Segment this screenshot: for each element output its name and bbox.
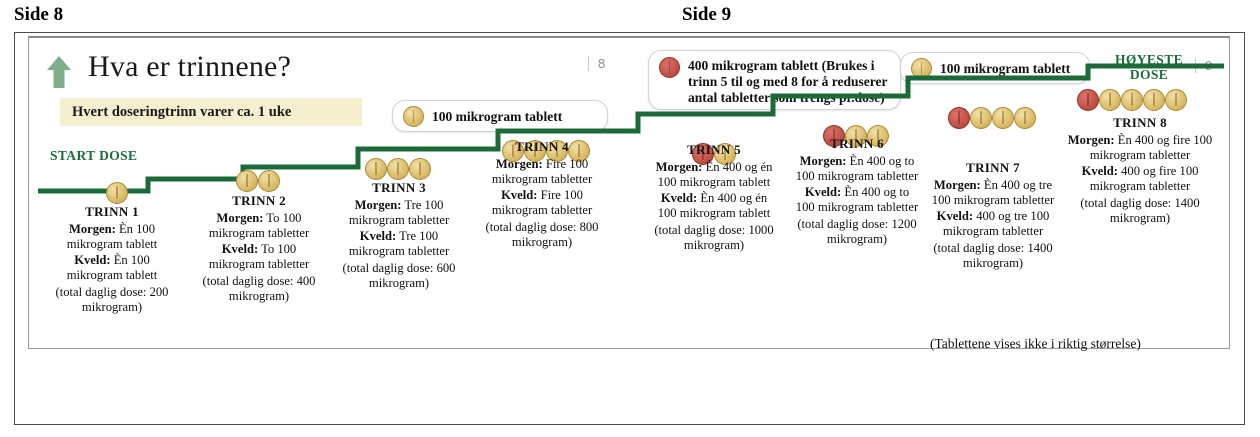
step-column: TRINN 1Morgen: Èn 100 mikrogram tablettK… [52, 204, 172, 315]
step-kveld-label: Kveld: [501, 188, 537, 202]
step-title: TRINN 7 [930, 160, 1056, 175]
step-column: TRINN 6Morgen: Èn 400 og to 100 mikrogra… [794, 136, 920, 247]
step-total: (total daglig dose: 1400 mikrogram) [930, 241, 1056, 270]
step-morgen: Morgen: Èn 400 og fire 100 mikrogram tab… [1064, 133, 1216, 162]
step-kveld: Kveld: Tre 100 mikrogram tabletter [338, 229, 460, 258]
step-title: TRINN 3 [338, 180, 460, 195]
gold-tablet-icon [409, 158, 431, 180]
gold-tablet-icon [992, 107, 1014, 129]
step-total: (total daglig dose: 800 mikrogram) [478, 220, 606, 249]
step-kveld: Kveld: Èn 400 og én 100 mikrogram tablet… [652, 191, 776, 220]
step-morgen-label: Morgen: [656, 160, 703, 174]
step-kveld: Kveld: Èn 100 mikrogram tablett [52, 253, 172, 282]
step-morgen-label: Morgen: [800, 154, 847, 168]
gold-tablet-icon [1014, 107, 1036, 129]
step-morgen: Morgen: Èn 100 mikrogram tablett [52, 222, 172, 251]
step-kveld: Kveld: Èn 400 og to 100 mikrogram tablet… [794, 185, 920, 214]
step-morgen: Morgen: Èn 400 og én 100 mikrogram table… [652, 160, 776, 189]
step-total: (total daglig dose: 200 mikrogram) [52, 285, 172, 314]
gold-tablet-icon [1099, 89, 1121, 111]
step-column: TRINN 5Morgen: Èn 400 og én 100 mikrogra… [652, 142, 776, 253]
step-kveld: Kveld: Fire 100 mikrogram tabletter [478, 188, 606, 217]
step-kveld-label: Kveld: [74, 253, 110, 267]
step-morgen-label: Morgen: [355, 198, 402, 212]
footnote-text: (Tablettene vises ikke i riktig størrels… [930, 336, 1141, 352]
step-title: TRINN 8 [1064, 115, 1216, 130]
red-tablet-icon [948, 107, 970, 129]
step-title: TRINN 4 [478, 139, 606, 154]
step-morgen: Morgen: Èn 400 og to 100 mikrogram table… [794, 154, 920, 183]
step-title: TRINN 2 [196, 193, 322, 208]
step-kveld: Kveld: To 100 mikrogram tabletter [196, 242, 322, 271]
step-column: TRINN 8Morgen: Èn 400 og fire 100 mikrog… [1064, 115, 1216, 226]
step-column: TRINN 2Morgen: To 100 mikrogram tablette… [196, 193, 322, 304]
gold-tablet-icon [258, 170, 280, 192]
step-title: TRINN 5 [652, 142, 776, 157]
step-morgen-label: Morgen: [934, 178, 981, 192]
step-kveld: Kveld: 400 og fire 100 mikrogram tablett… [1064, 164, 1216, 193]
step-total: (total daglig dose: 400 mikrogram) [196, 274, 322, 303]
step-total: (total daglig dose: 1400 mikrogram) [1064, 196, 1216, 225]
step-total: (total daglig dose: 600 mikrogram) [338, 261, 460, 290]
step-kveld-label: Kveld: [1082, 164, 1118, 178]
step-column: TRINN 4Morgen: Fire 100 mikrogram tablet… [478, 139, 606, 250]
step-kveld: Kveld: 400 og tre 100 mikrogram tablette… [930, 209, 1056, 238]
gold-tablet-icon [365, 158, 387, 180]
gold-tablet-icon [1165, 89, 1187, 111]
page-label-side-9: Side 9 [682, 4, 731, 26]
step-total: (total daglig dose: 1200 mikrogram) [794, 217, 920, 246]
red-tablet-icon [1077, 89, 1099, 111]
step-morgen: Morgen: Èn 400 og tre 100 mikrogram tabl… [930, 178, 1056, 207]
step-morgen-label: Morgen: [1068, 133, 1115, 147]
step-title: TRINN 6 [794, 136, 920, 151]
step-morgen: Morgen: To 100 mikrogram tabletter [196, 211, 322, 240]
gold-tablet-icon [387, 158, 409, 180]
step-morgen-label: Morgen: [69, 222, 116, 236]
gold-tablet-icon [236, 170, 258, 192]
gold-tablet-icon [970, 107, 992, 129]
gold-tablet-icon [1121, 89, 1143, 111]
step-kveld-label: Kveld: [805, 185, 841, 199]
step-kveld-label: Kveld: [360, 229, 396, 243]
step-title: TRINN 1 [52, 204, 172, 219]
step-morgen-label: Morgen: [217, 211, 264, 225]
step-morgen-label: Morgen: [496, 157, 543, 171]
step-total: (total daglig dose: 1000 mikrogram) [652, 223, 776, 252]
step-kveld-label: Kveld: [661, 191, 697, 205]
step-kveld-label: Kveld: [222, 242, 258, 256]
step-column: TRINN 7Morgen: Èn 400 og tre 100 mikrogr… [930, 160, 1056, 271]
step-kveld-label: Kveld: [937, 209, 973, 223]
gold-tablet-icon [106, 182, 128, 204]
step-morgen: Morgen: Fire 100 mikrogram tabletter [478, 157, 606, 186]
page-label-side-8: Side 8 [14, 4, 63, 26]
gold-tablet-icon [1143, 89, 1165, 111]
step-column: TRINN 3Morgen: Tre 100 mikrogram tablett… [338, 180, 460, 291]
step-morgen: Morgen: Tre 100 mikrogram tabletter [338, 198, 460, 227]
